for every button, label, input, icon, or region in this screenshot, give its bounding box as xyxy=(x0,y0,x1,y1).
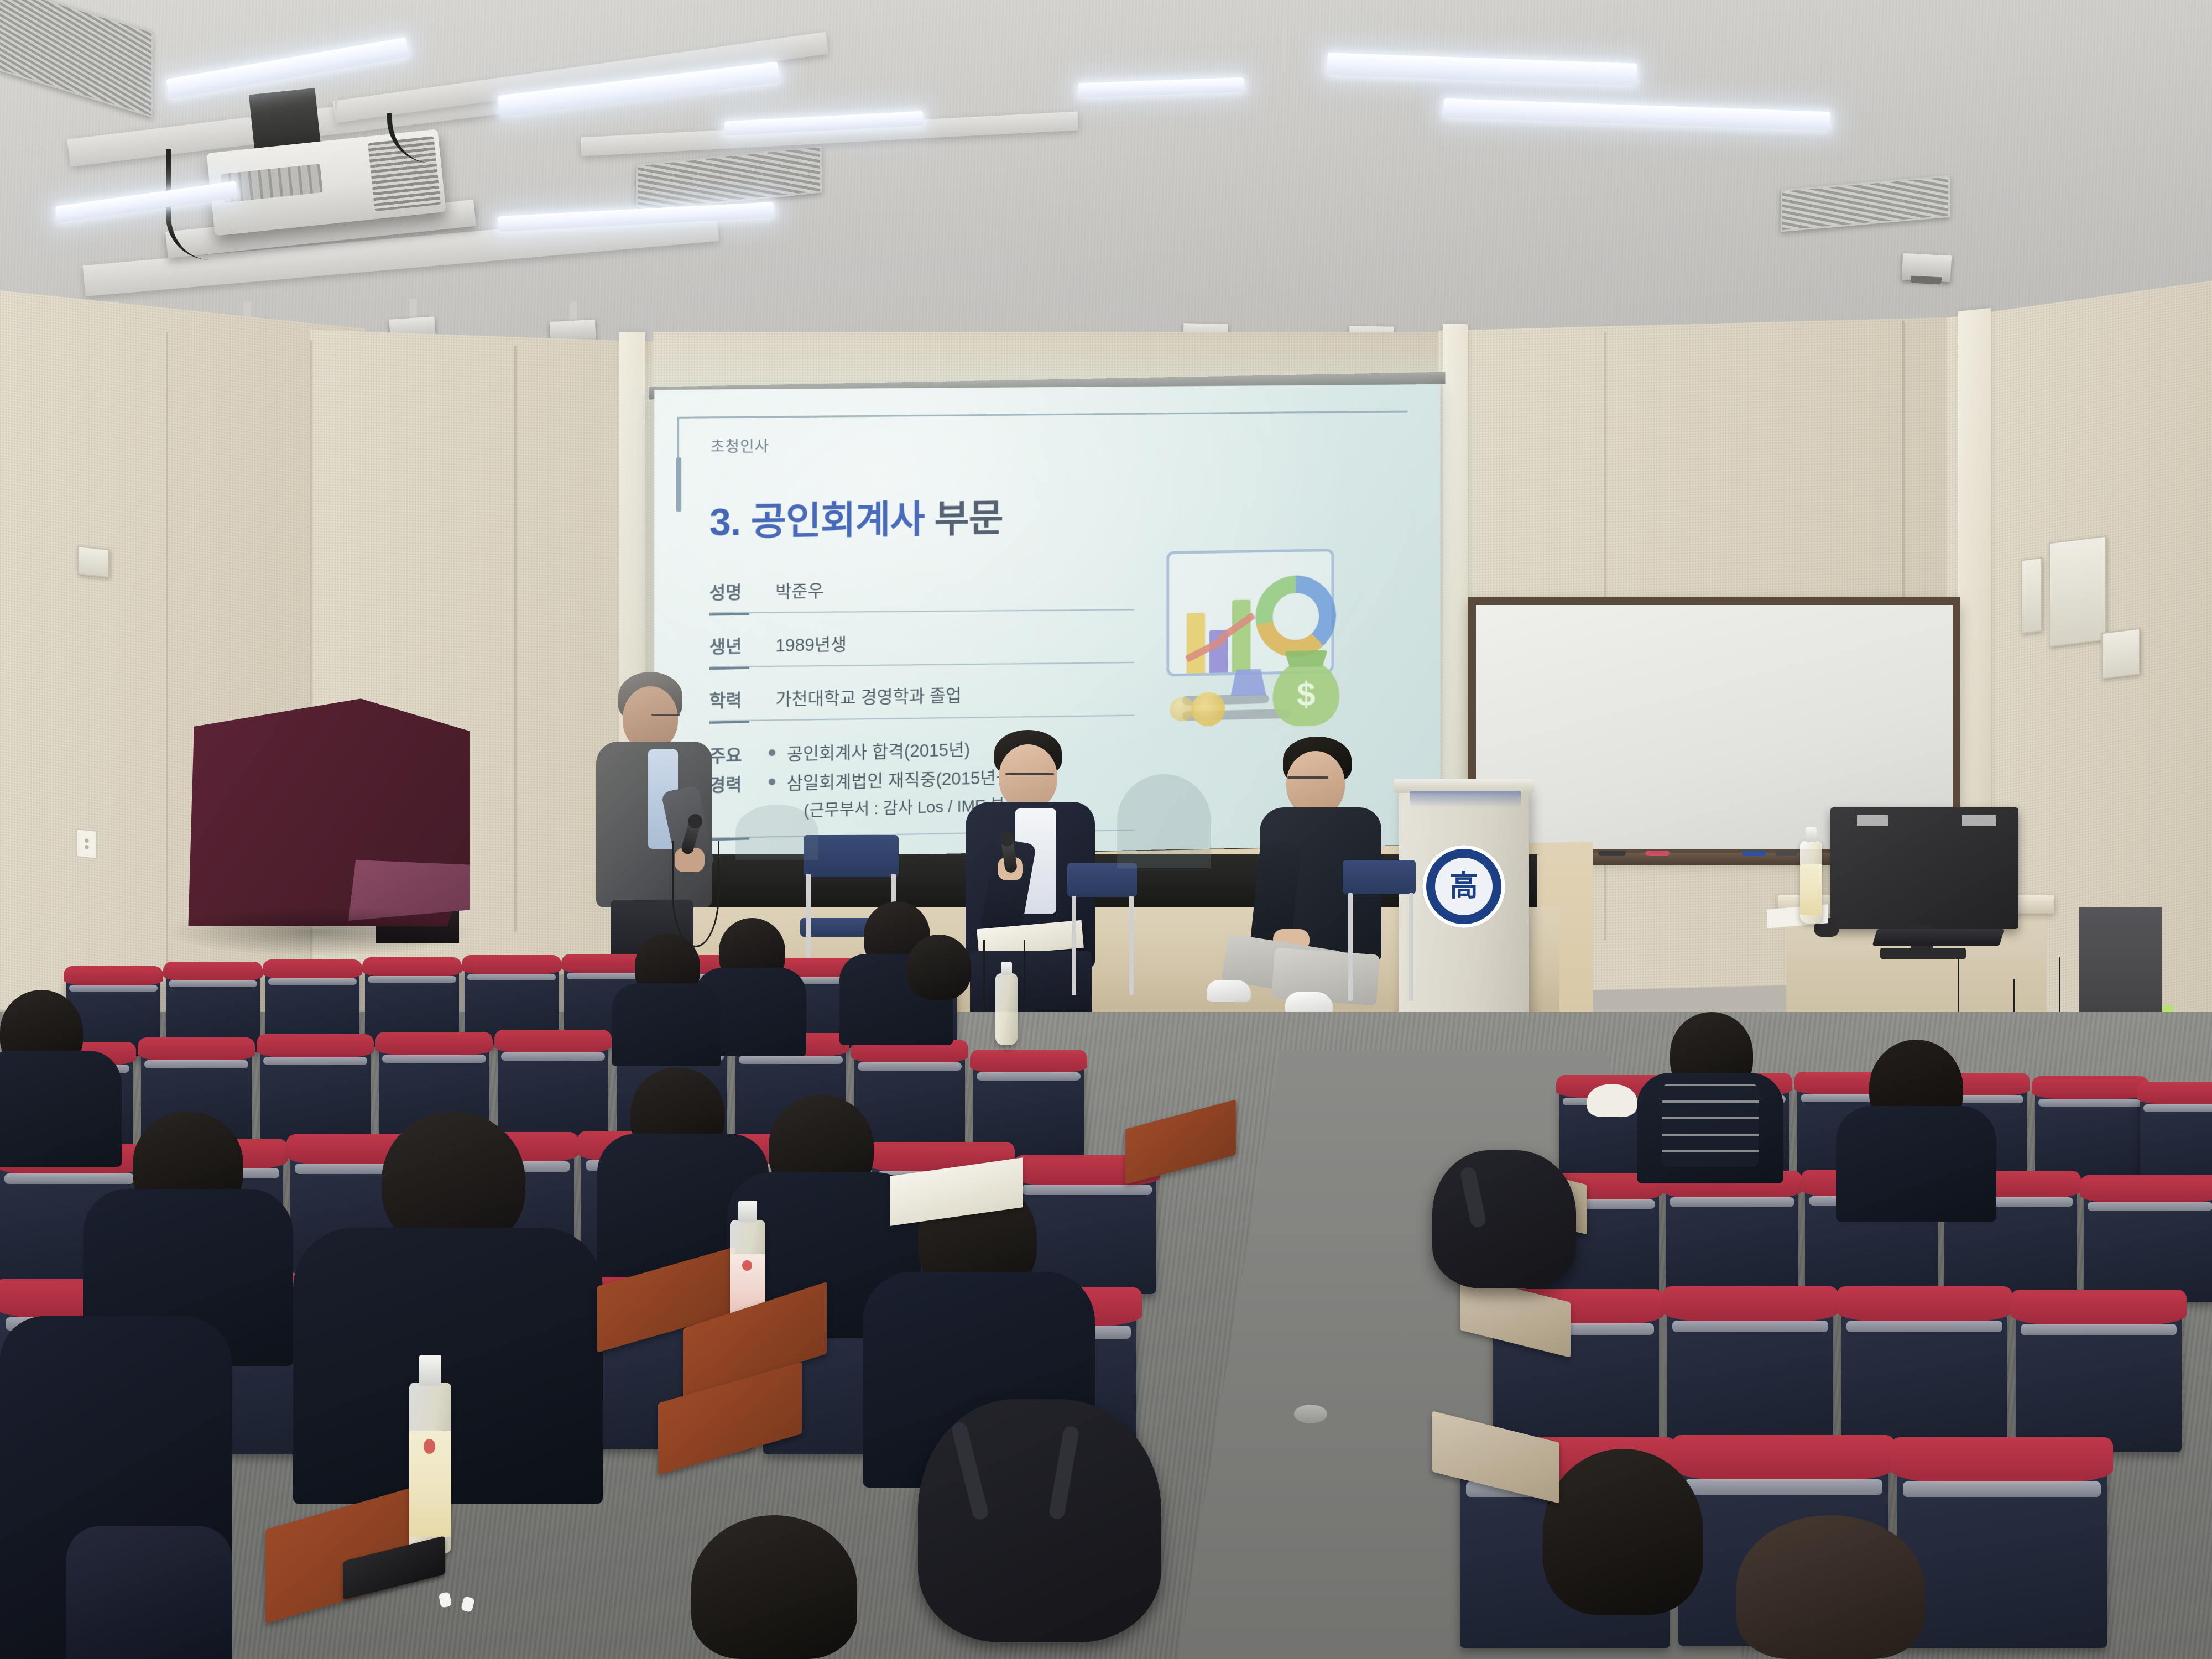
money-symbol: $ xyxy=(1273,661,1340,727)
bottle-brand-dot xyxy=(742,1260,752,1271)
seat-piping xyxy=(1670,1197,1794,1207)
seat-piping xyxy=(263,1057,367,1065)
water-bottle xyxy=(1800,841,1822,924)
slide-rule xyxy=(709,609,1134,613)
wall-conduit xyxy=(2021,557,2042,634)
seat-piping xyxy=(467,974,556,980)
whiteboard-marker xyxy=(1775,851,1797,856)
auditorium-photo-scene: 초청인사 3. 공인회계사 부문 성명 박준우 생년 1989년생 학력 가천대… xyxy=(0,0,2212,1659)
seat-piping xyxy=(1022,1185,1152,1194)
seat[interactable] xyxy=(498,1039,608,1138)
whiteboard-eraser xyxy=(1598,851,1626,856)
speaker-shadow-on-screen xyxy=(1117,774,1211,868)
monitor-sticker xyxy=(1962,815,1996,826)
backpack-strap xyxy=(1459,1166,1487,1228)
seat-crest xyxy=(257,1034,374,1058)
bottle-cap xyxy=(1001,962,1013,974)
seat[interactable] xyxy=(1666,1181,1798,1297)
student-body xyxy=(612,983,721,1066)
ceiling-hanger xyxy=(1283,0,1286,72)
slide-row-value-education: 가천대학교 경영학과 졸업 xyxy=(775,681,961,711)
seat[interactable] xyxy=(260,1043,371,1142)
chair-leg xyxy=(1072,896,1076,995)
seat-crest xyxy=(1837,1286,2012,1322)
wall-outlet xyxy=(76,828,97,859)
whiteboard-marker xyxy=(1645,851,1670,856)
bottle-cap xyxy=(1806,827,1817,842)
slide-rule xyxy=(709,715,1134,722)
slide-bullet-dot xyxy=(769,749,775,756)
speaker-shadow-on-screen xyxy=(735,805,818,860)
seat[interactable] xyxy=(1841,1300,2007,1449)
panelist-head xyxy=(999,744,1057,810)
slide-row-value-name: 박준우 xyxy=(775,577,824,603)
student-head xyxy=(691,1515,857,1659)
student-jacket-lettering xyxy=(1662,1084,1759,1167)
panelist-chair xyxy=(1067,863,1145,995)
seat-piping xyxy=(169,980,257,987)
bottle-cap xyxy=(738,1201,757,1223)
control-desk-monitor xyxy=(1830,807,2018,929)
seat-piping xyxy=(268,978,357,985)
slide-row-label-name: 성명 xyxy=(709,578,742,604)
keyboard[interactable] xyxy=(1872,929,2005,946)
bar-chart-bar xyxy=(1232,600,1250,672)
water-bottle xyxy=(995,973,1018,1045)
seat-piping xyxy=(1903,1481,2100,1497)
slide-title-number: 3. xyxy=(709,500,740,544)
slide-accent-tick xyxy=(676,457,681,512)
slide-title: 3. 공인회계사 부문 xyxy=(709,487,1003,546)
backpack-strap xyxy=(951,1421,990,1521)
podium-banner-strip xyxy=(1410,791,1521,807)
school-emblem: 高 xyxy=(1422,845,1505,928)
slide-row-label-birthyear: 생년 xyxy=(709,632,742,658)
backpack-strap xyxy=(1048,1425,1079,1520)
seat[interactable] xyxy=(2084,1186,2212,1302)
iced-tea-bottle xyxy=(409,1383,451,1554)
floor-access-plate xyxy=(1294,1405,1327,1423)
slide-career-bullet-1: 공인회계사 합격(2015년) xyxy=(787,735,970,765)
seat-crest xyxy=(494,1030,612,1053)
wall-mounted-control-box xyxy=(2049,536,2106,648)
seat-crest xyxy=(2011,1290,2187,1326)
seat-crest xyxy=(375,1032,493,1056)
seat-crest xyxy=(1672,1435,1895,1481)
panelist-chair xyxy=(1343,860,1426,1004)
seat-piping xyxy=(2088,1202,2212,1211)
seat-crest xyxy=(138,1037,255,1061)
wall-seam xyxy=(514,346,517,932)
seat-piping xyxy=(1684,1479,1882,1495)
bottle-body xyxy=(995,973,1018,1045)
student-body xyxy=(0,1051,122,1167)
slide-title-main: 공인회계사 xyxy=(751,488,925,546)
seat-piping xyxy=(501,1052,605,1060)
slide-header-bracket xyxy=(677,411,1408,487)
monitor-sticker xyxy=(1857,815,1888,826)
seat-crest xyxy=(163,962,263,982)
bottle-label xyxy=(409,1431,451,1537)
panelist2-sneaker xyxy=(1207,980,1251,1002)
slide-bullet-dot xyxy=(769,779,775,786)
slide-title-suffix: 부문 xyxy=(935,487,1003,543)
glasses-icon xyxy=(1005,773,1054,775)
covered-grand-piano xyxy=(182,694,470,926)
bottle-brand-dot xyxy=(424,1439,435,1454)
slide-rule xyxy=(709,662,1134,667)
seat-crest xyxy=(1891,1437,2114,1484)
glasses-icon xyxy=(651,714,680,716)
seat-piping xyxy=(69,985,158,992)
seat-crest xyxy=(462,955,561,975)
seat-piping xyxy=(858,1062,962,1070)
bottle-label xyxy=(1800,864,1822,915)
whiteboard-marker xyxy=(1742,851,1766,856)
slide-row-value-birthyear: 1989년생 xyxy=(775,630,847,656)
bar-chart-bar xyxy=(1187,613,1205,674)
piano-shadow xyxy=(166,907,476,957)
backpack xyxy=(1432,1150,1576,1288)
student-body xyxy=(1836,1106,1996,1222)
seat-piping xyxy=(2038,1099,2142,1107)
monitor-stand xyxy=(1230,669,1266,696)
money-bag-icon: $ xyxy=(1273,661,1340,727)
seat-piping xyxy=(739,1056,843,1063)
seat[interactable] xyxy=(2140,1091,2212,1187)
chair-leg xyxy=(1129,896,1134,995)
chair-leg xyxy=(1409,893,1413,1001)
spotlight xyxy=(1902,253,1952,283)
foreground-student-body xyxy=(66,1526,232,1659)
slide-rule-cap xyxy=(709,613,749,615)
moderator-head xyxy=(623,686,678,750)
backpack xyxy=(918,1399,1161,1642)
wall-seam xyxy=(166,332,168,984)
seat-piping xyxy=(144,1060,248,1068)
student-head xyxy=(1736,1515,1924,1659)
seat-piping xyxy=(1846,1321,2002,1333)
glasses-icon xyxy=(1287,776,1328,779)
seat-crest xyxy=(2137,1082,2212,1105)
microphone-cable xyxy=(672,841,719,947)
seat-piping xyxy=(977,1072,1081,1080)
seat-crest xyxy=(2080,1175,2212,1203)
seat-piping xyxy=(2143,1104,2212,1112)
seat[interactable] xyxy=(2016,1303,2182,1452)
seat[interactable] xyxy=(1667,1300,1833,1449)
seat-piping xyxy=(2021,1324,2177,1336)
chair-backrest xyxy=(1343,860,1416,894)
slide-eyebrow-label: 초청인사 xyxy=(711,434,769,457)
wall-speaker-bracket xyxy=(77,546,109,578)
chair-leg xyxy=(806,874,811,962)
finance-dashboard-icon: $ xyxy=(1161,549,1339,733)
coin-icon xyxy=(1192,692,1225,727)
seat-crest xyxy=(64,966,163,986)
seat-piping xyxy=(1672,1321,1828,1333)
seat-crest xyxy=(362,957,462,977)
seat[interactable] xyxy=(2035,1085,2146,1182)
seat-crest xyxy=(1662,1286,1838,1322)
seat-crest xyxy=(970,1050,1087,1073)
seat-piping xyxy=(382,1055,486,1062)
bottle-cap xyxy=(419,1355,441,1386)
seat-crest xyxy=(2032,1076,2149,1099)
seat-piping xyxy=(368,976,456,983)
panelist2-head xyxy=(1286,751,1345,816)
chair-leg xyxy=(1348,893,1353,1001)
student-head xyxy=(1543,1449,1703,1615)
seat[interactable] xyxy=(1897,1454,2107,1648)
seat-piping xyxy=(4,1173,134,1183)
student-collar xyxy=(1587,1084,1637,1117)
student-head xyxy=(907,935,971,1000)
wall-junction-box xyxy=(2101,628,2140,680)
seat-crest xyxy=(263,959,362,979)
slide-rule-cap xyxy=(709,667,749,670)
monitor-base xyxy=(1880,948,1966,959)
school-emblem-glyph: 高 xyxy=(1435,858,1493,915)
